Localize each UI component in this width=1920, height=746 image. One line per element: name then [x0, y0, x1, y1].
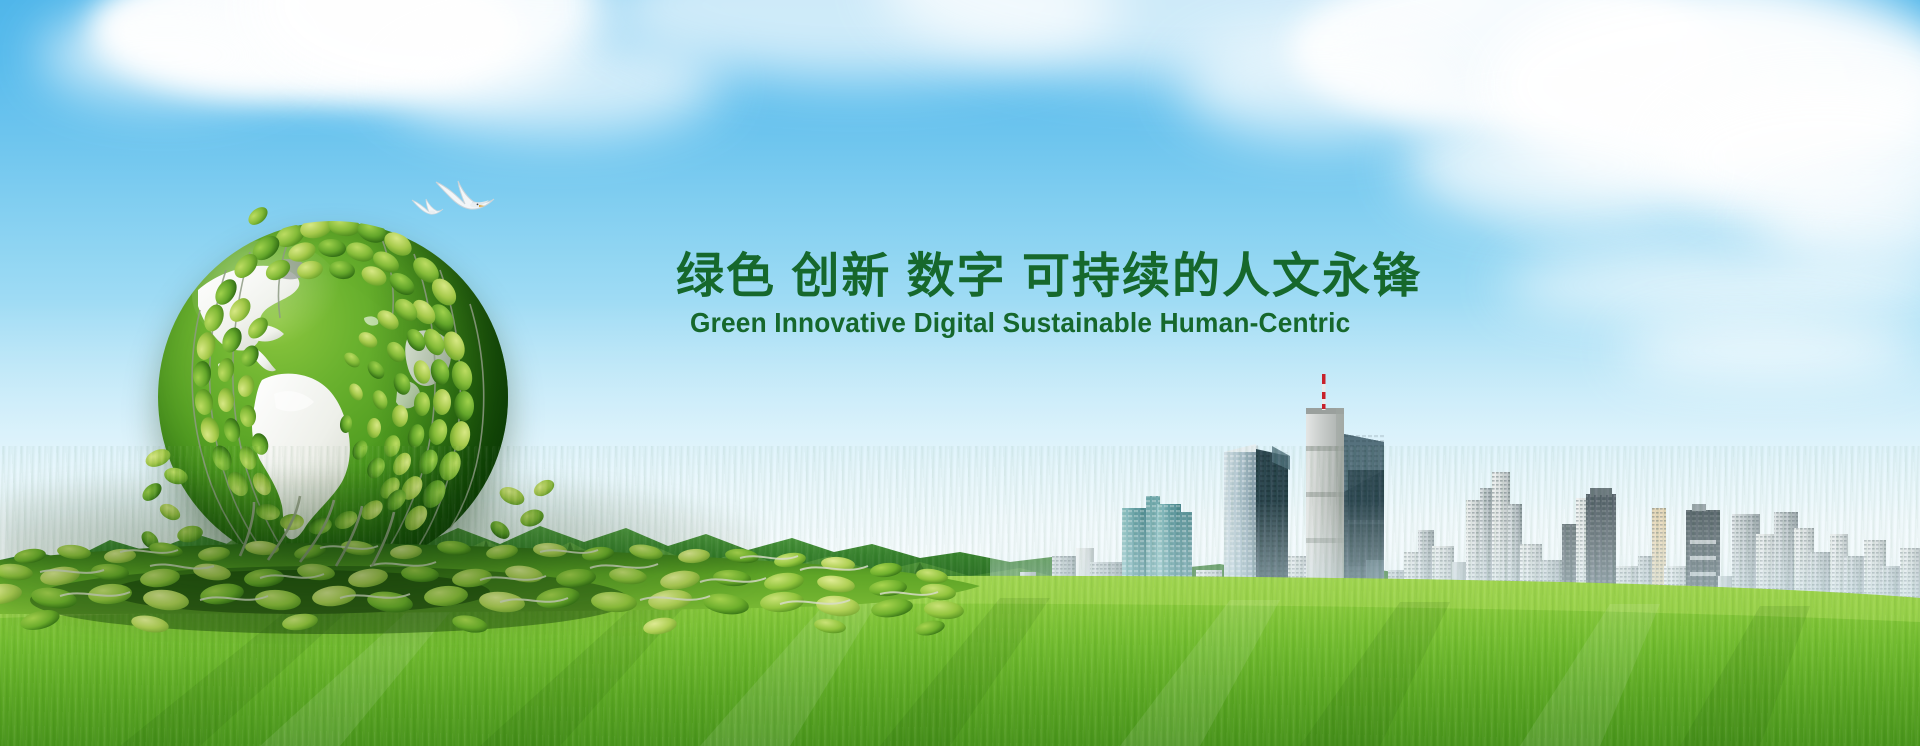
hero-banner: 绿色 创新 数字 可持续的人文永锋 Green Innovative Digit…	[0, 0, 1920, 746]
headline-chinese: 绿色 创新 数字 可持续的人文永锋	[676, 252, 1296, 303]
headline-block: 绿色 创新 数字 可持续的人文永锋 Green Innovative Digit…	[676, 252, 1296, 338]
globe-ground-shadow	[0, 470, 760, 640]
headline-english: Green Innovative Digital Sustainable Hum…	[690, 308, 1282, 338]
